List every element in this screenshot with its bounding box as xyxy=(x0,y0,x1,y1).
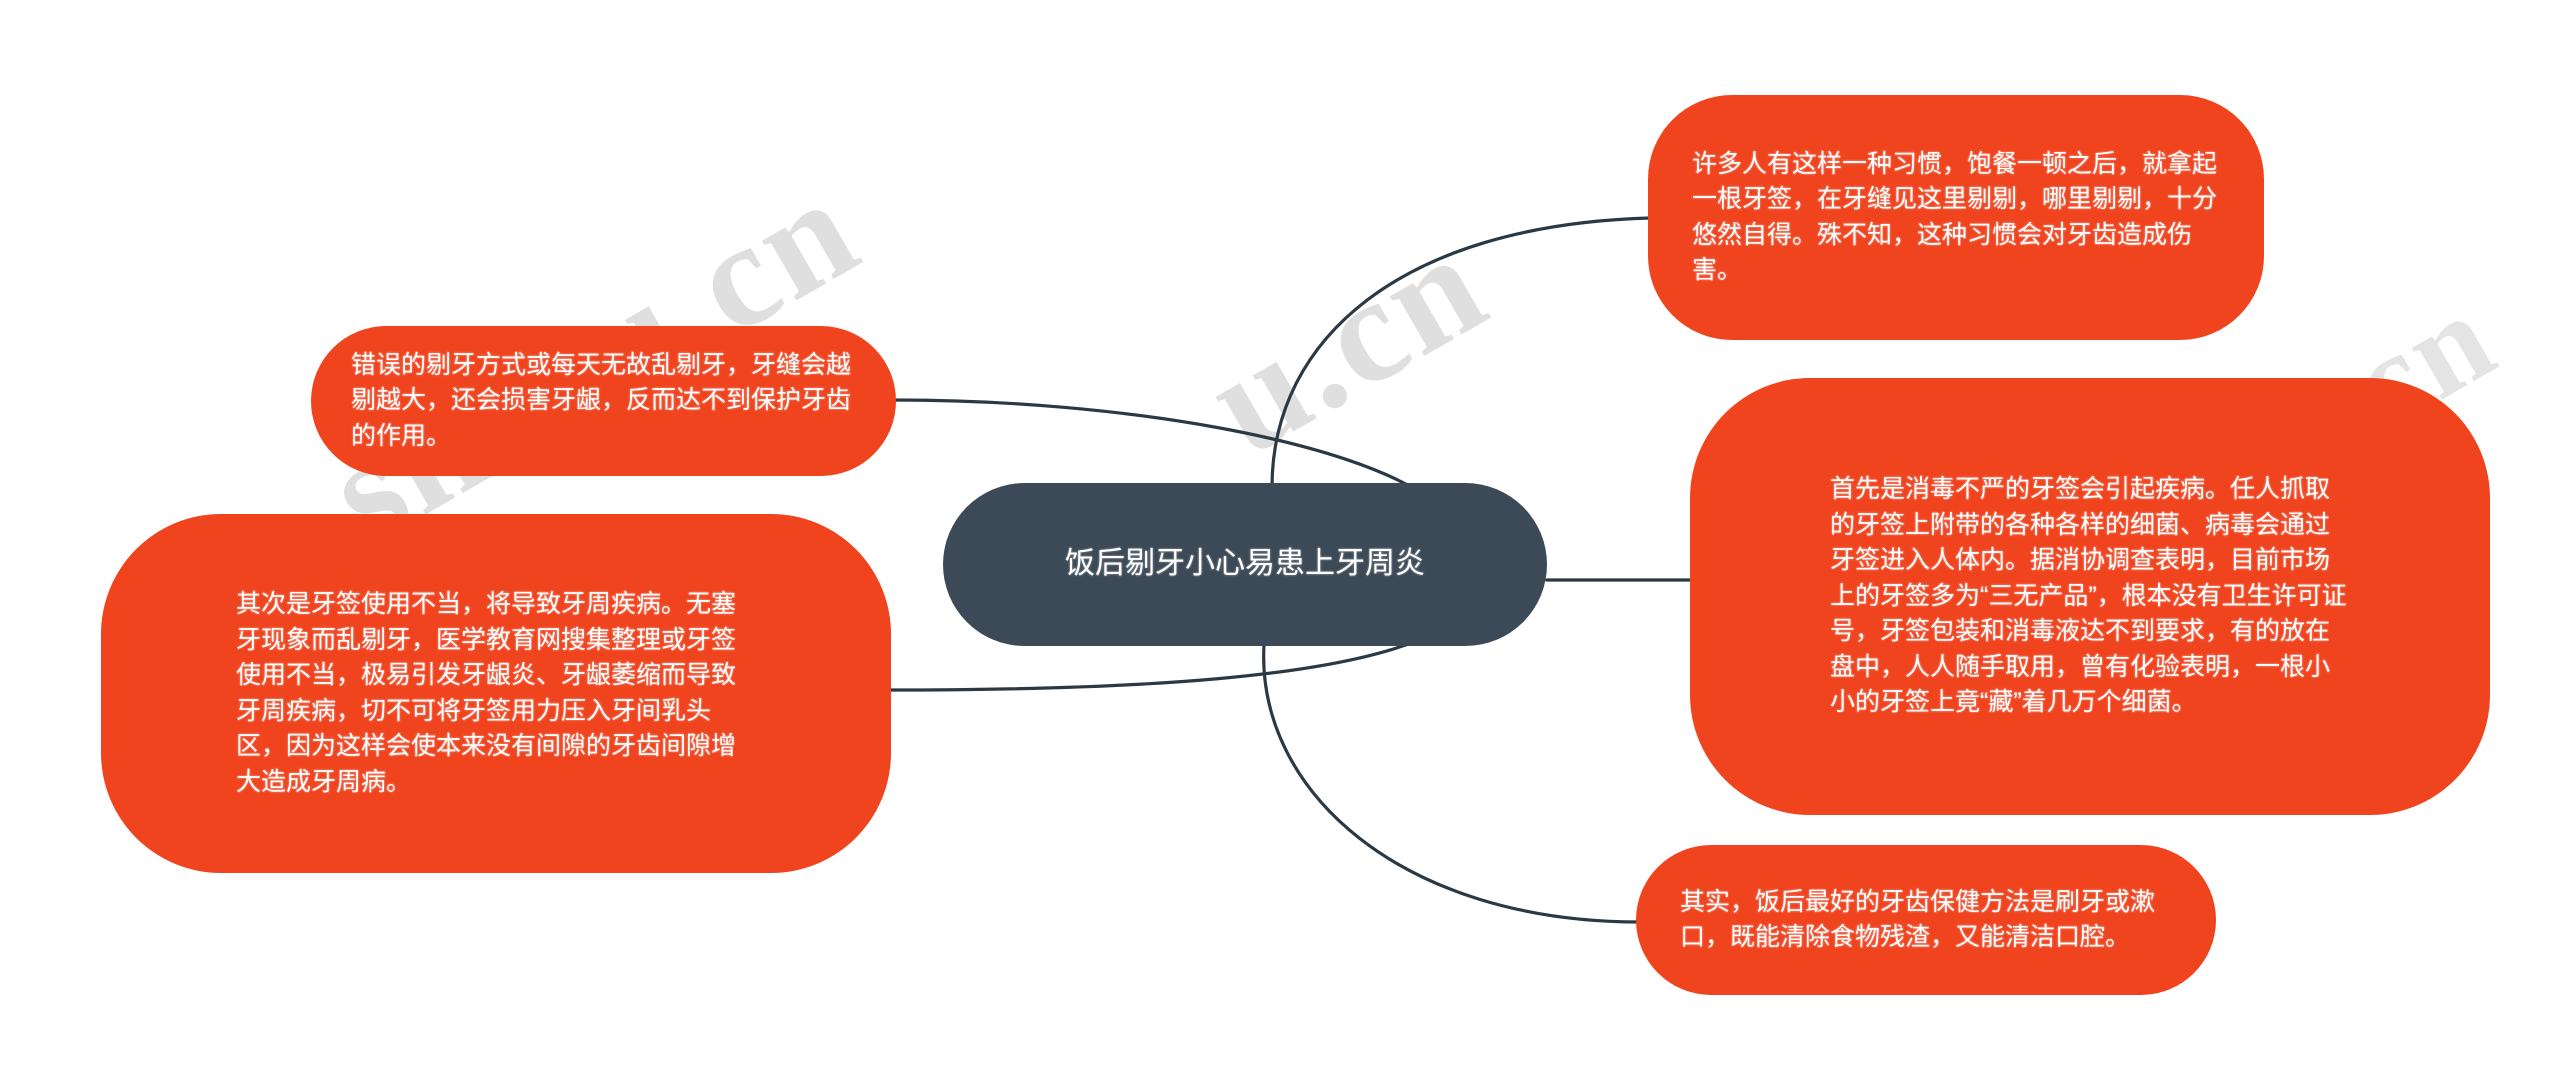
branch-label-mid-right: 首先是消毒不严的牙签会引起疾病。任人抓取的牙签上附带的各种各样的细菌、病毒会通过… xyxy=(1830,472,2350,721)
branch-node-bottom-left[interactable]: 其次是牙签使用不当，将导致牙周疾病。无塞牙现象而乱剔牙，医学教育网搜集整理或牙签… xyxy=(101,514,891,873)
branch-node-mid-right[interactable]: 首先是消毒不严的牙签会引起疾病。任人抓取的牙签上附带的各种各样的细菌、病毒会通过… xyxy=(1690,378,2490,815)
branch-label-top-right: 许多人有这样一种习惯，饱餐一顿之后，就拿起一根牙签，在牙缝见这里剔剔，哪里剔剔，… xyxy=(1692,147,2220,289)
central-topic-label: 饭后剔牙小心易患上牙周炎 xyxy=(1030,543,1460,586)
central-topic-node[interactable]: 饭后剔牙小心易患上牙周炎 xyxy=(943,483,1547,646)
branch-label-bottom-right: 其实，饭后最好的牙齿保健方法是刷牙或漱口，既能清除食物残渣，又能清洁口腔。 xyxy=(1680,885,2172,956)
branch-node-top-left[interactable]: 错误的剔牙方式或每天无故乱剔牙，牙缝会越剔越大，还会损害牙龈，反而达不到保护牙齿… xyxy=(311,326,896,476)
branch-label-top-left: 错误的剔牙方式或每天无故乱剔牙，牙缝会越剔越大，还会损害牙龈，反而达不到保护牙齿… xyxy=(351,348,856,455)
branch-node-bottom-right[interactable]: 其实，饭后最好的牙齿保健方法是刷牙或漱口，既能清除食物残渣，又能清洁口腔。 xyxy=(1636,845,2216,995)
edge-to-bottom-right xyxy=(1264,645,1640,922)
branch-node-top-right[interactable]: 许多人有这样一种习惯，饱餐一顿之后，就拿起一根牙签，在牙缝见这里剔剔，哪里剔剔，… xyxy=(1648,95,2264,340)
edge-to-top-right xyxy=(1272,218,1650,487)
branch-label-bottom-left: 其次是牙签使用不当，将导致牙周疾病。无塞牙现象而乱剔牙，医学教育网搜集整理或牙签… xyxy=(236,587,756,800)
mindmap-canvas: shutu.cn u.cn 树图shutu.cn 错误的剔牙方式或每天无故乱剔牙… xyxy=(0,0,2560,1087)
